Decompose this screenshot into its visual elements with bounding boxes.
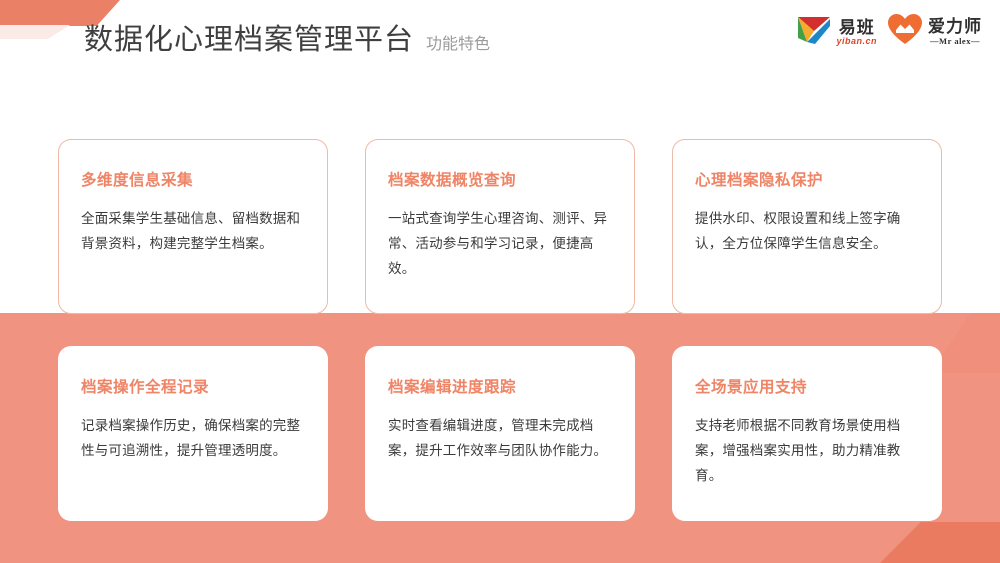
feature-card[interactable]: 心理档案隐私保护 提供水印、权限设置和线上签字确认，全方位保障学生信息安全。 (672, 139, 942, 314)
feature-card-body: 提供水印、权限设置和线上签字确认，全方位保障学生信息安全。 (695, 207, 919, 257)
feature-card[interactable]: 档案编辑进度跟踪 实时查看编辑进度，管理未完成档案，提升工作效率与团队协作能力。 (365, 346, 635, 521)
feature-card-body: 支持老师根据不同教育场景使用档案，增强档案实用性，助力精准教育。 (695, 414, 919, 489)
logo-mr-alex-text: 爱力师 —Mr alex— (928, 18, 982, 46)
heart-mark-icon (887, 13, 923, 51)
feature-card[interactable]: 多维度信息采集 全面采集学生基础信息、留档数据和背景资料，构建完整学生档案。 (58, 139, 328, 314)
feature-card-body: 记录档案操作历史，确保档案的完整性与可追溯性，提升管理透明度。 (81, 414, 305, 464)
feature-card-title: 多维度信息采集 (81, 172, 305, 191)
feature-card-body: 全面采集学生基础信息、留档数据和背景资料，构建完整学生档案。 (81, 207, 305, 257)
logo-yiban-domain: yiban.cn (836, 37, 877, 46)
feature-card-body: 一站式查询学生心理咨询、测评、异常、活动参与和学习记录，便捷高效。 (388, 207, 612, 282)
slide-header: 数据化心理档案管理平台 功能特色 易班 yiban.cn (0, 0, 1000, 90)
page-subtitle: 功能特色 (426, 37, 490, 53)
feature-card-title: 档案数据概览查询 (388, 172, 612, 191)
logo-yiban: 易班 yiban.cn (797, 14, 877, 51)
slide-canvas: 数据化心理档案管理平台 功能特色 易班 yiban.cn (0, 0, 1000, 563)
feature-card-title: 全场景应用支持 (695, 379, 919, 398)
logo-yiban-text: 易班 yiban.cn (836, 19, 877, 46)
feature-card[interactable]: 档案数据概览查询 一站式查询学生心理咨询、测评、异常、活动参与和学习记录，便捷高… (365, 139, 635, 314)
feature-card-title: 档案编辑进度跟踪 (388, 379, 612, 398)
logo-mr-alex-cn: 爱力师 (928, 18, 982, 35)
logo-group: 易班 yiban.cn 爱力师 —Mr alex— (797, 13, 982, 51)
logo-mr-alex-sub: —Mr alex— (930, 37, 980, 46)
logo-yiban-cn: 易班 (839, 19, 875, 36)
triangle-chevron-mark-icon (797, 14, 831, 51)
feature-card-body: 实时查看编辑进度，管理未完成档案，提升工作效率与团队协作能力。 (388, 414, 612, 464)
title-group: 数据化心理档案管理平台 功能特色 (84, 26, 490, 55)
background-dark-parallelogram (880, 522, 1000, 563)
page-title: 数据化心理档案管理平台 (84, 26, 414, 55)
feature-card-title: 档案操作全程记录 (81, 379, 305, 398)
feature-card-title: 心理档案隐私保护 (695, 172, 919, 191)
feature-card-grid: 多维度信息采集 全面采集学生基础信息、留档数据和背景资料，构建完整学生档案。 档… (58, 139, 943, 521)
logo-mr-alex: 爱力师 —Mr alex— (887, 13, 982, 51)
feature-card[interactable]: 档案操作全程记录 记录档案操作历史，确保档案的完整性与可追溯性，提升管理透明度。 (58, 346, 328, 521)
feature-card[interactable]: 全场景应用支持 支持老师根据不同教育场景使用档案，增强档案实用性，助力精准教育。 (672, 346, 942, 521)
